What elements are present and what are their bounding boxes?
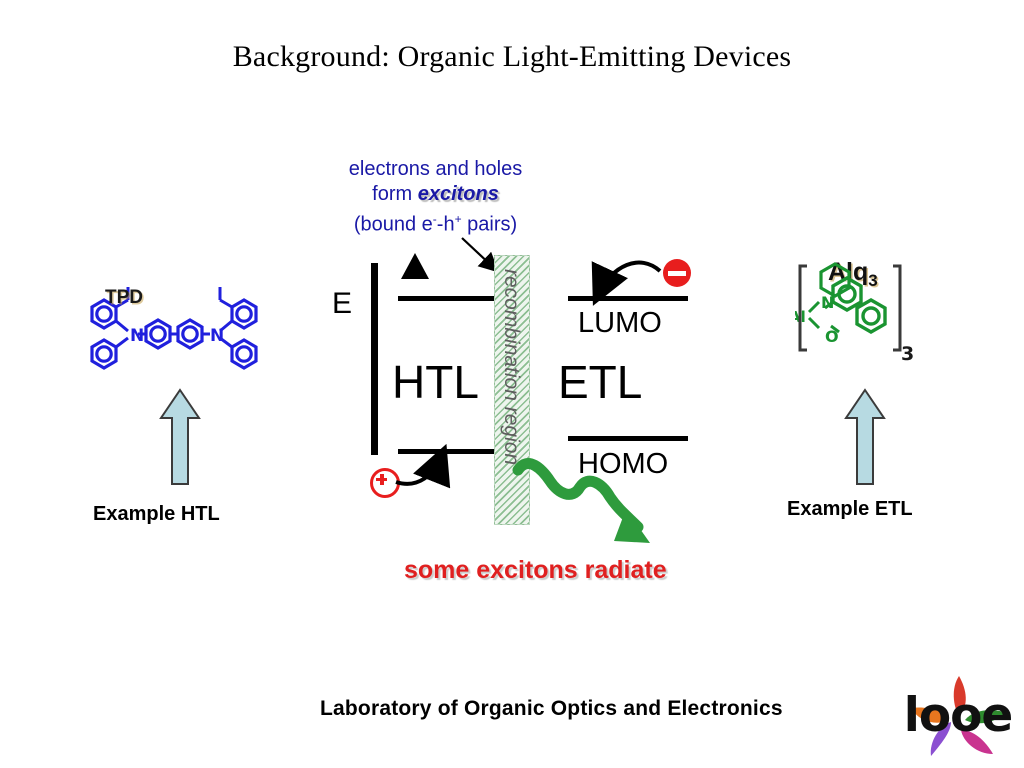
example-etl-caption: Example ETL <box>787 498 913 521</box>
tpd-svg: N N <box>70 275 260 380</box>
slide-canvas: Background: Organic Light-Emitting Devic… <box>0 0 1024 768</box>
tpd-molecule-structure: N N <box>70 275 260 385</box>
tpd-molecule-label: TPD <box>105 287 143 309</box>
looe-logo: looe <box>897 668 1019 760</box>
photon-wave <box>518 463 638 527</box>
energy-level-diagram: E HTL ETL LUMO HOMO recombination region <box>330 255 700 545</box>
hole-injection-arrow <box>396 455 442 484</box>
alq3-oxygen: O <box>825 327 839 346</box>
looe-logo-text: looe <box>897 688 1019 743</box>
alq3-svg: N O Al 3 <box>795 250 915 365</box>
lab-footer: Laboratory of Organic Optics and Electro… <box>320 697 783 721</box>
alq3-molecule-structure: N O Al 3 <box>795 250 915 370</box>
htl-pointer-arrow <box>155 388 205 488</box>
radiate-note: some excitons radiate <box>404 556 667 585</box>
electron-injection-arrow <box>598 263 660 295</box>
alq3-nitrogen: N <box>821 293 834 312</box>
etl-pointer-arrow <box>840 388 890 488</box>
tpd-nitrogen-left: N <box>130 326 144 346</box>
alq3-bracket-subscript: 3 <box>901 343 914 365</box>
diagram-arrows <box>330 255 730 555</box>
alq3-right-bracket <box>893 266 900 350</box>
example-htl-caption: Example HTL <box>93 503 220 526</box>
tpd-nitrogen-right: N <box>210 326 224 346</box>
